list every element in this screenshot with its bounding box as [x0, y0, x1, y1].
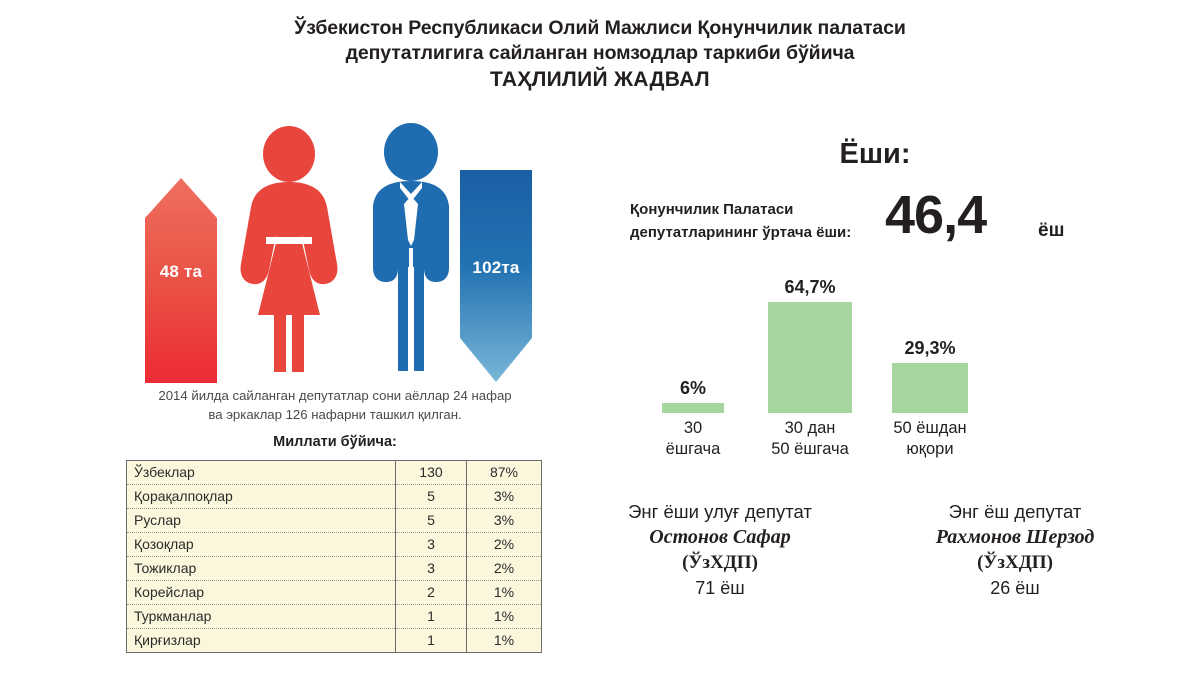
- nationality-percent: 1%: [466, 605, 541, 629]
- nationality-name: Қорақалпоқлар: [127, 485, 396, 509]
- gender-caption-line-2: ва эркаклар 126 нафарни ташкил қилган.: [125, 405, 545, 424]
- nationality-count: 1: [395, 629, 466, 653]
- nationality-count: 5: [395, 485, 466, 509]
- gender-and-nationality-panel: 48 та: [0, 0, 580, 674]
- arrow-down-icon: [460, 170, 532, 382]
- nationality-percent: 1%: [466, 581, 541, 605]
- table-row: Қозоқлар32%: [127, 533, 542, 557]
- youngest-deputy-party: (ЎзХДП): [870, 550, 1160, 576]
- bar-category-line: 30 дан: [771, 418, 849, 439]
- average-age-label-line-2: депутатларининг ўртача ёши:: [630, 221, 880, 244]
- nationality-percent: 2%: [466, 557, 541, 581]
- male-pictogram: [358, 122, 464, 375]
- nationality-name: Руслар: [127, 509, 396, 533]
- average-age-label: Қонунчилик Палатаси депутатларининг ўрта…: [630, 198, 880, 245]
- age-panel: Ёши: Қонунчилик Палатаси депутатларининг…: [580, 0, 1200, 674]
- youngest-deputy-card: Энг ёш депутат Рахмонов Шерзод (ЎзХДП) 2…: [870, 500, 1160, 600]
- nationality-table: Ўзбеклар13087%Қорақалпоқлар53%Руслар53%Қ…: [126, 460, 542, 653]
- table-row: Корейслар21%: [127, 581, 542, 605]
- table-row: Ўзбеклар13087%: [127, 461, 542, 485]
- bar-value-label: 29,3%: [904, 338, 955, 359]
- table-row: Қорақалпоқлар53%: [127, 485, 542, 509]
- oldest-deputy-age: 71 ёш: [575, 576, 865, 600]
- table-row: Руслар53%: [127, 509, 542, 533]
- table-row: Тожиклар32%: [127, 557, 542, 581]
- bar-category-label: 30 дан50 ёшгача: [771, 418, 849, 459]
- table-row: Туркманлар11%: [127, 605, 542, 629]
- youngest-deputy-name: Рахмонов Шерзод: [870, 524, 1160, 550]
- oldest-deputy-party: (ЎзХДП): [575, 550, 865, 576]
- average-age-block: Қонунчилик Палатаси депутатларининг ўрта…: [630, 198, 1170, 258]
- youngest-deputy-age: 26 ёш: [870, 576, 1160, 600]
- male-figure-icon: [358, 122, 464, 375]
- average-age-label-line-1: Қонунчилик Палатаси: [630, 198, 880, 221]
- bar-value-label: 64,7%: [784, 277, 835, 298]
- age-heading: Ёши:: [780, 138, 970, 171]
- bar-category-line: 50 ёшдан: [893, 418, 966, 439]
- oldest-deputy-card: Энг ёши улуғ депутат Остонов Сафар (ЎзХД…: [575, 500, 865, 600]
- deputy-highlights: Энг ёши улуғ депутат Остонов Сафар (ЎзХД…: [580, 500, 1200, 630]
- bar-column: 6%30ёшгача: [662, 403, 724, 413]
- nationality-percent: 2%: [466, 533, 541, 557]
- nationality-percent: 87%: [466, 461, 541, 485]
- female-pictogram: [238, 125, 340, 375]
- women-count-arrow-up: 48 та: [145, 178, 217, 383]
- age-distribution-bar-chart: 6%30ёшгача64,7%30 дан50 ёшгача29,3%50 ёш…: [640, 280, 1080, 475]
- nationality-name: Корейслар: [127, 581, 396, 605]
- gender-caption: 2014 йилда сайланган депутатлар сони аёл…: [125, 386, 545, 424]
- nationality-count: 3: [395, 533, 466, 557]
- arrow-up-icon: [145, 178, 217, 383]
- bar-category-line: ёшгача: [666, 439, 721, 460]
- oldest-deputy-name: Остонов Сафар: [575, 524, 865, 550]
- bar-rect: [662, 403, 724, 413]
- gender-figures-group: 48 та: [130, 120, 550, 380]
- youngest-deputy-title: Энг ёш депутат: [870, 500, 1160, 524]
- nationality-count: 2: [395, 581, 466, 605]
- nationality-count: 130: [395, 461, 466, 485]
- bar-category-line: юқори: [893, 439, 966, 460]
- nationality-count: 3: [395, 557, 466, 581]
- bar-rect: [892, 363, 968, 413]
- bar-category-label: 50 ёшданюқори: [893, 418, 966, 459]
- nationality-name: Туркманлар: [127, 605, 396, 629]
- nationality-count: 1: [395, 605, 466, 629]
- bar-category-line: 30: [666, 418, 721, 439]
- average-age-value: 46,4: [885, 188, 986, 242]
- bar-category-label: 30ёшгача: [666, 418, 721, 459]
- average-age-unit: ёш: [1038, 220, 1064, 242]
- nationality-percent: 3%: [466, 485, 541, 509]
- bar-column: 64,7%30 дан50 ёшгача: [768, 302, 852, 413]
- bar-value-label: 6%: [680, 378, 706, 399]
- gender-caption-line-1: 2014 йилда сайланган депутатлар сони аёл…: [125, 386, 545, 405]
- female-figure-icon: [238, 125, 340, 375]
- nationality-name: Қозоқлар: [127, 533, 396, 557]
- nationality-heading: Миллати бўйича:: [125, 434, 545, 450]
- nationality-count: 5: [395, 509, 466, 533]
- nationality-name: Тожиклар: [127, 557, 396, 581]
- bar-category-line: 50 ёшгача: [771, 439, 849, 460]
- nationality-name: Қирғизлар: [127, 629, 396, 653]
- table-row: Қирғизлар11%: [127, 629, 542, 653]
- bar-rect: [768, 302, 852, 413]
- bar-column: 29,3%50 ёшданюқори: [892, 363, 968, 413]
- oldest-deputy-title: Энг ёши улуғ депутат: [575, 500, 865, 524]
- nationality-percent: 1%: [466, 629, 541, 653]
- nationality-percent: 3%: [466, 509, 541, 533]
- nationality-name: Ўзбеклар: [127, 461, 396, 485]
- men-count-arrow-down: 102та: [460, 170, 532, 382]
